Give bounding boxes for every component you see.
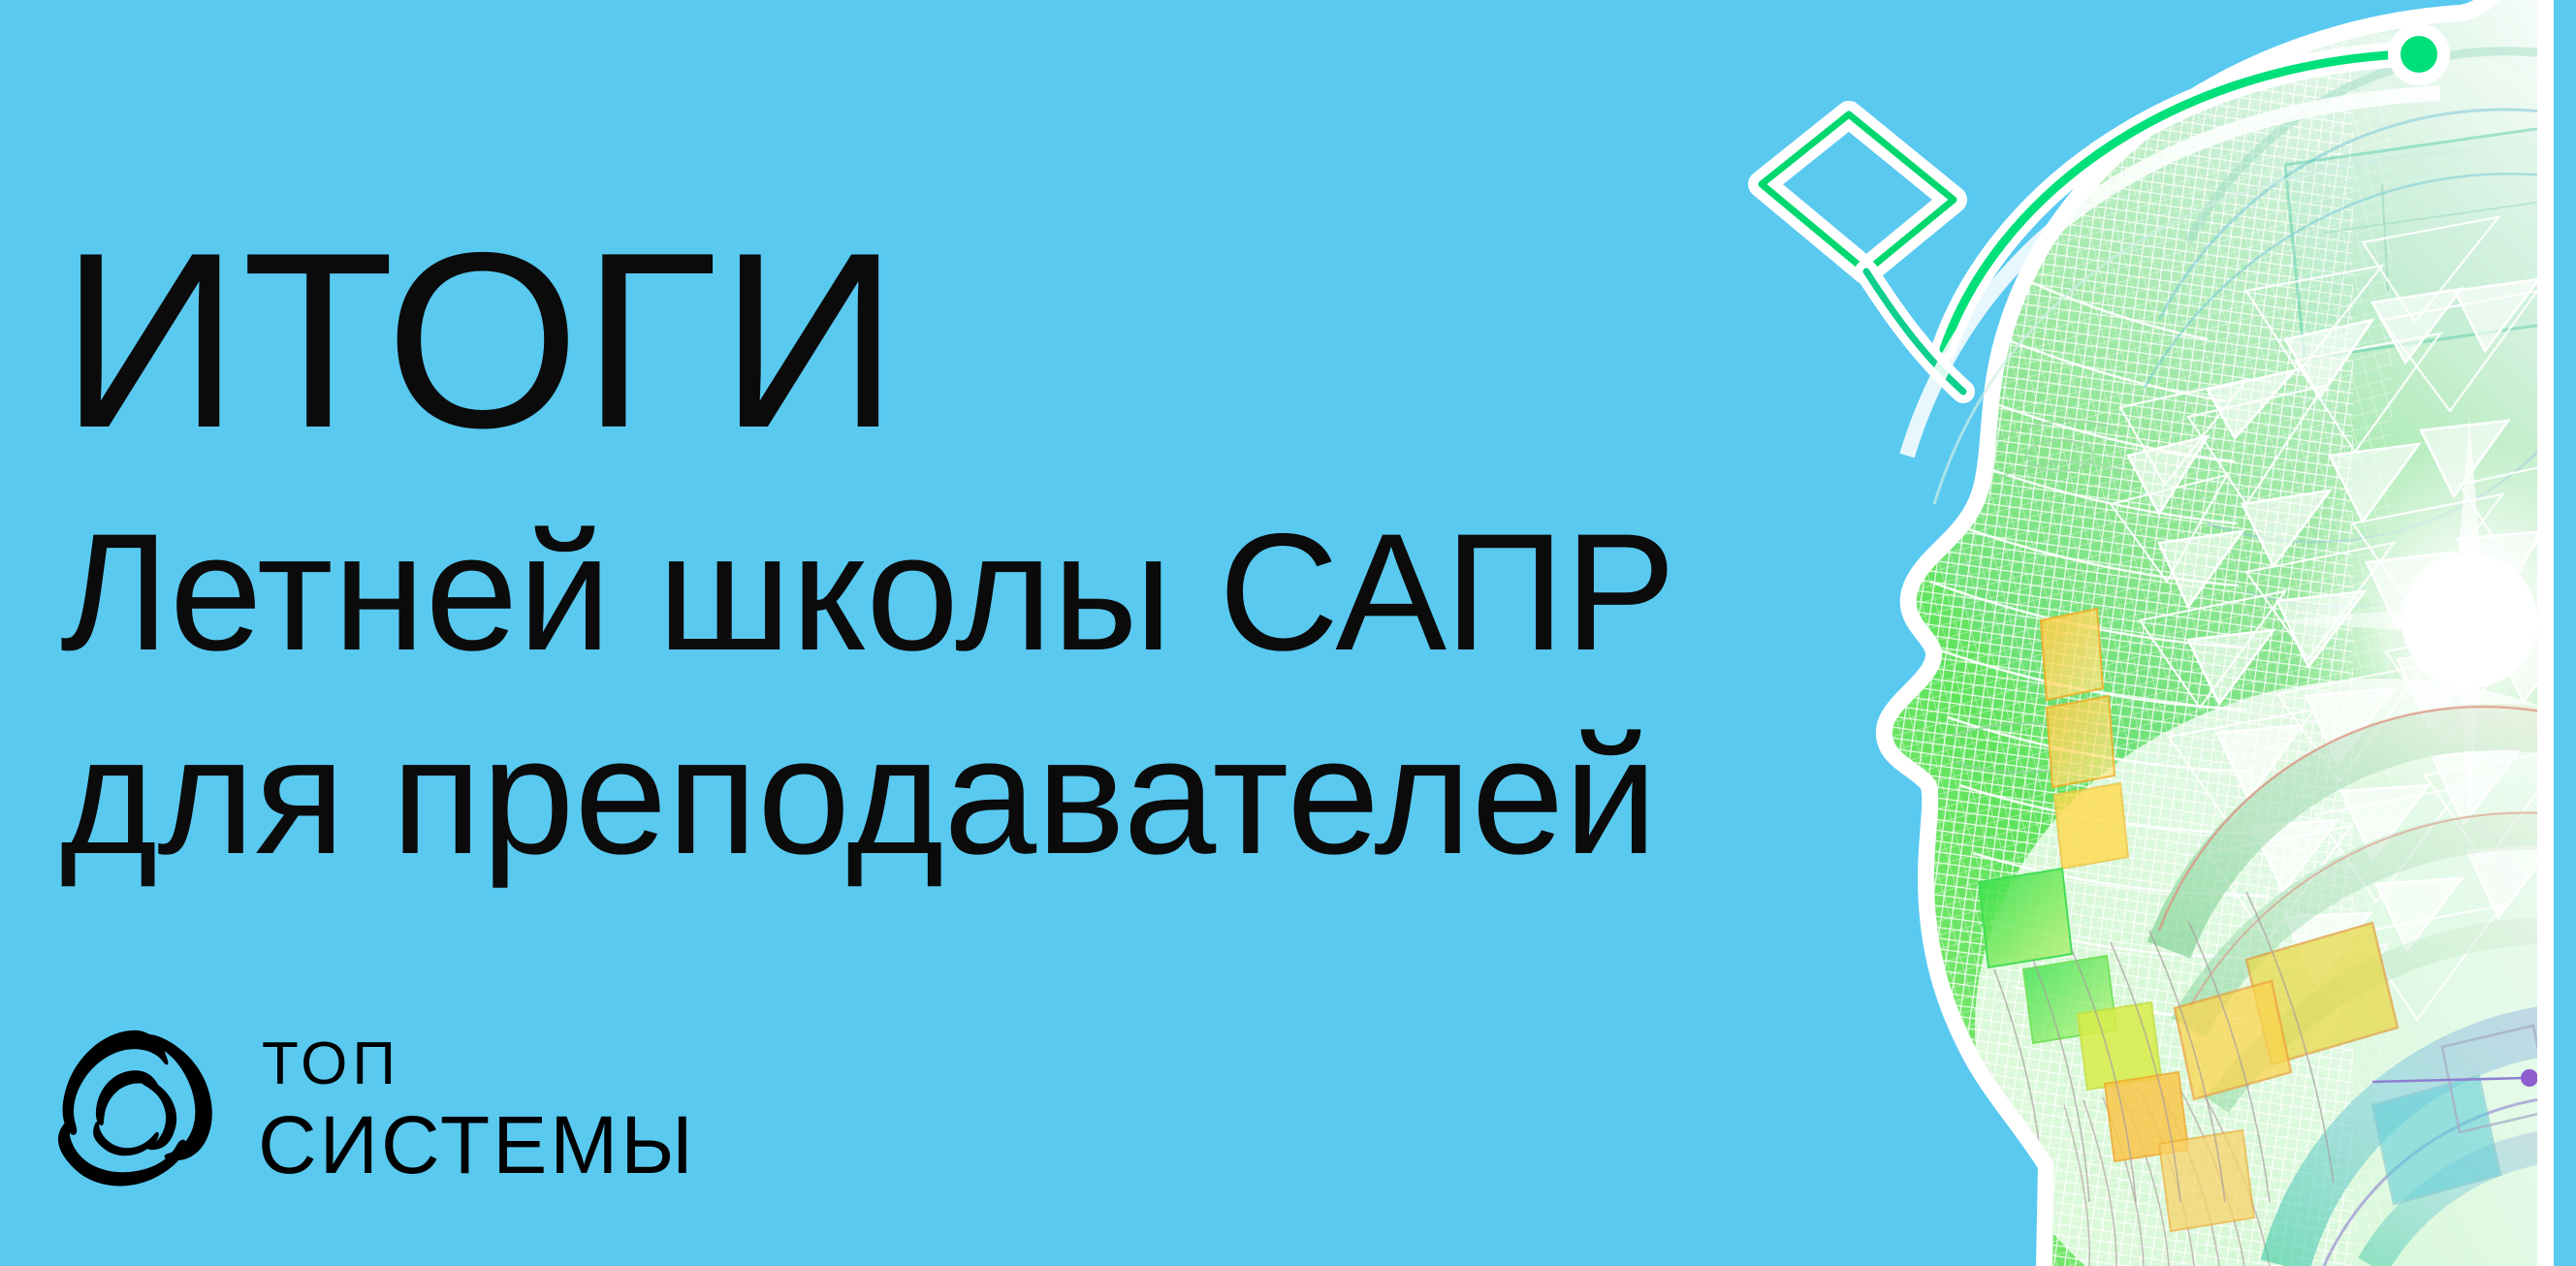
brand-logo[interactable]: ТОП СИСТЕМЫ xyxy=(50,1023,696,1193)
subtitle-line-2: для преподавателей xyxy=(60,695,1825,899)
subtitle-line-1: Летней школы САПР xyxy=(60,491,1825,695)
logo-word-bottom: СИСТЕМЫ xyxy=(258,1102,696,1187)
green-pointer-dot xyxy=(2401,36,2437,73)
logo-wordmark: ТОП СИСТЕМЫ xyxy=(258,1034,696,1187)
banner-root: ИТОГИ Летней школы САПР для преподавател… xyxy=(0,0,2576,1266)
top-systems-trefoil-icon xyxy=(50,1023,221,1193)
text-block: ИТОГИ Летней школы САПР для преподавател… xyxy=(60,221,1825,899)
head-illustration-svg xyxy=(1703,0,2576,1266)
logo-word-top: ТОП xyxy=(262,1034,696,1094)
wireframe-head-graphic xyxy=(1703,0,2576,1266)
page-title: ИТОГИ xyxy=(60,221,1825,459)
